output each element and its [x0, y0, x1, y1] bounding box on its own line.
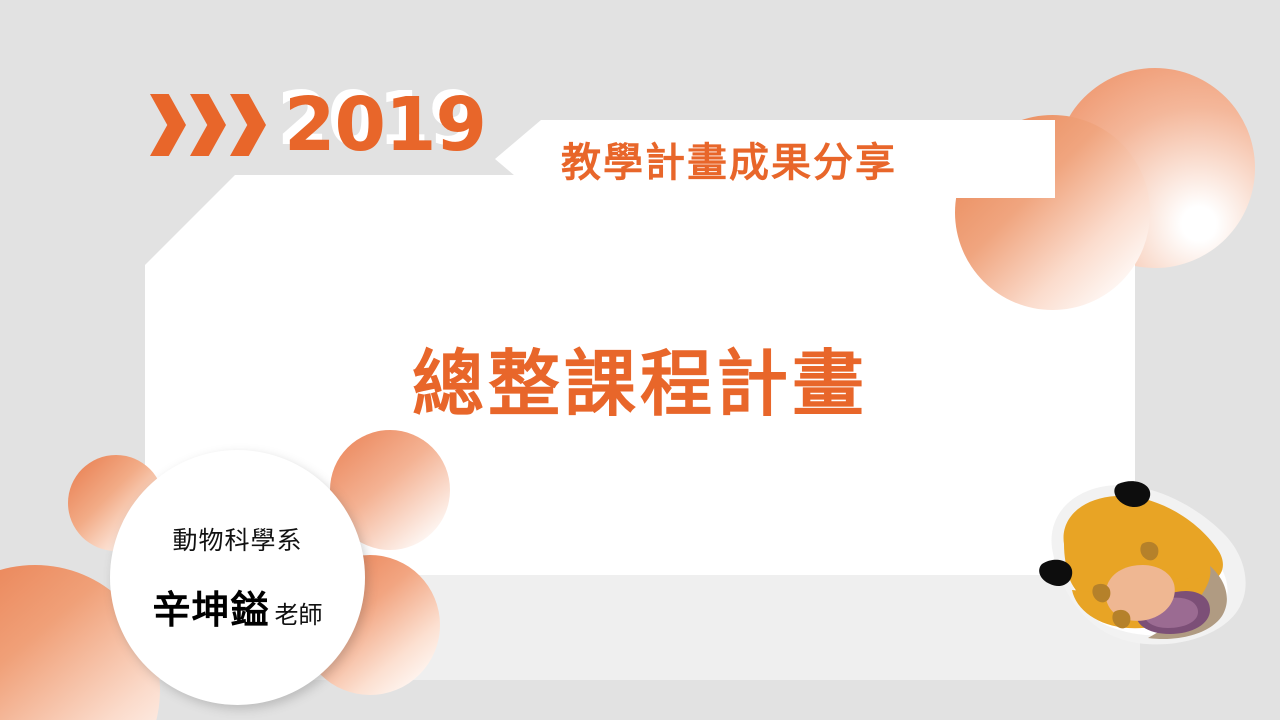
duck-bill-icon — [1020, 470, 1280, 670]
presenter-row: 辛坤鎰 老師 — [152, 579, 322, 634]
chevron-right-icon — [150, 94, 186, 156]
presentation-slide: 2019 教學計畫成果分享 總整課程計畫 動物科學系 辛坤鎰 老師 — [0, 0, 1280, 720]
page-title: 總整課程計畫 — [0, 325, 1280, 430]
department-label: 動物科學系 — [172, 521, 302, 557]
presenter-badge: 動物科學系 辛坤鎰 老師 — [110, 450, 365, 705]
year-text: 2019 — [284, 88, 486, 162]
header-title: 教學計畫成果分享 — [561, 130, 897, 188]
year-badge: 2019 — [150, 88, 486, 162]
chevron-group — [150, 94, 270, 156]
presenter-name: 辛坤鎰 — [152, 579, 269, 634]
chevron-right-icon — [190, 94, 226, 156]
chevron-right-icon — [230, 94, 266, 156]
presenter-role: 老師 — [275, 595, 323, 630]
panel-base-band-secondary — [330, 575, 1140, 680]
header-banner: 教學計畫成果分享 — [495, 120, 1055, 198]
